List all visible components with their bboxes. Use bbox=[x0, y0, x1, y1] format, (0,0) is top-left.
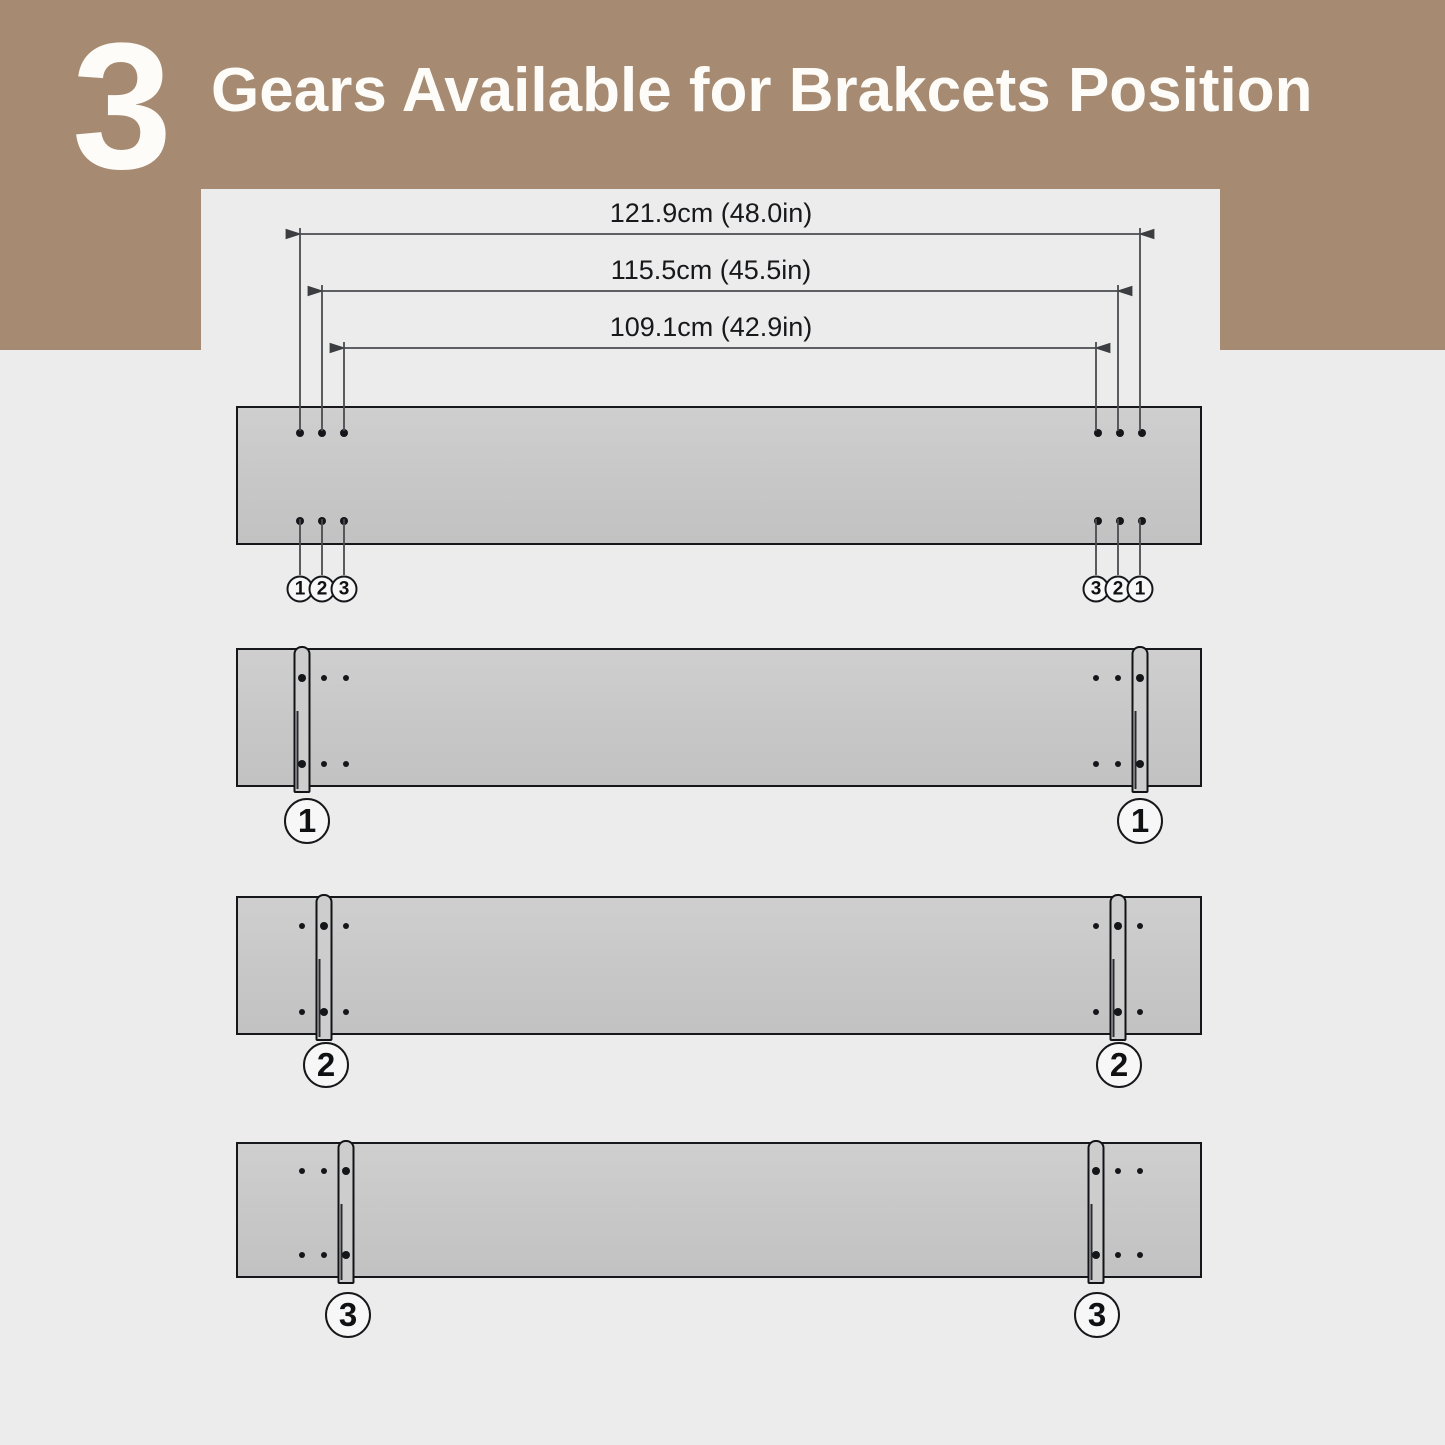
hole-bottom-right-2 bbox=[1114, 1008, 1122, 1016]
hole-bottom-right-3 bbox=[1093, 1009, 1099, 1015]
gear-marker-right-1: 1 bbox=[1117, 798, 1163, 844]
hole-bottom-right-1 bbox=[1136, 760, 1144, 768]
bracket-right-gear-1 bbox=[1132, 646, 1149, 793]
gear-board-2 bbox=[236, 896, 1202, 1035]
hole-top-left-1 bbox=[298, 674, 306, 682]
gear-marker-left-3: 3 bbox=[325, 1292, 371, 1338]
board-surface bbox=[238, 408, 1200, 543]
hole-top-left-1 bbox=[299, 1168, 305, 1174]
hole-bottom-right-1 bbox=[1137, 1252, 1143, 1258]
hole-top-right-3 bbox=[1092, 1167, 1100, 1175]
hole-bottom-left-1 bbox=[299, 1009, 305, 1015]
dimension-label-2: 115.5cm (45.5in) bbox=[611, 255, 812, 286]
gear-board-1 bbox=[236, 648, 1202, 787]
hole-bottom-left-1 bbox=[296, 517, 304, 525]
hole-bottom-right-1 bbox=[1137, 1009, 1143, 1015]
overview-board bbox=[236, 406, 1202, 545]
hole-bottom-left-2 bbox=[321, 761, 327, 767]
bracket-edge-line bbox=[1135, 711, 1137, 789]
hole-bottom-left-3 bbox=[340, 517, 348, 525]
bracket-left-gear-2 bbox=[316, 894, 333, 1041]
hole-top-left-3 bbox=[343, 675, 349, 681]
hole-bottom-left-1 bbox=[298, 760, 306, 768]
hole-top-right-2 bbox=[1116, 429, 1124, 437]
gear-marker-right-2: 2 bbox=[1096, 1042, 1142, 1088]
hole-bottom-right-2 bbox=[1115, 1252, 1121, 1258]
hole-top-right-1 bbox=[1137, 923, 1143, 929]
hole-top-left-1 bbox=[296, 429, 304, 437]
hole-bottom-left-3 bbox=[342, 1251, 350, 1259]
bracket-right-gear-2 bbox=[1110, 894, 1127, 1041]
hole-bottom-right-3 bbox=[1094, 517, 1102, 525]
bracket-right-gear-3 bbox=[1088, 1140, 1105, 1284]
hole-top-right-3 bbox=[1093, 923, 1099, 929]
hole-bottom-right-2 bbox=[1116, 517, 1124, 525]
gear-board-3 bbox=[236, 1142, 1202, 1278]
hole-bottom-left-2 bbox=[318, 517, 326, 525]
bracket-edge-line bbox=[1113, 959, 1115, 1037]
board-surface bbox=[238, 1144, 1200, 1276]
bracket-left-gear-3 bbox=[338, 1140, 355, 1284]
hole-top-left-2 bbox=[321, 675, 327, 681]
hole-bottom-left-1 bbox=[299, 1252, 305, 1258]
bracket-edge-line bbox=[341, 1204, 343, 1280]
hole-bottom-right-3 bbox=[1093, 761, 1099, 767]
hole-top-left-3 bbox=[340, 429, 348, 437]
hole-bottom-left-3 bbox=[343, 761, 349, 767]
bracket-edge-line bbox=[1091, 1204, 1093, 1280]
board-surface bbox=[238, 898, 1200, 1033]
bracket-edge-line bbox=[319, 959, 321, 1037]
hole-top-right-2 bbox=[1115, 675, 1121, 681]
hole-top-right-2 bbox=[1114, 922, 1122, 930]
dimension-label-3: 109.1cm (42.9in) bbox=[610, 312, 813, 343]
bracket-edge-line bbox=[297, 711, 299, 789]
hole-bottom-left-2 bbox=[320, 1008, 328, 1016]
hole-top-right-1 bbox=[1138, 429, 1146, 437]
hole-bottom-left-3 bbox=[343, 1009, 349, 1015]
hole-top-left-2 bbox=[321, 1168, 327, 1174]
hole-top-left-3 bbox=[342, 1167, 350, 1175]
board-surface bbox=[238, 650, 1200, 785]
hole-bottom-right-2 bbox=[1115, 761, 1121, 767]
hole-top-right-2 bbox=[1115, 1168, 1121, 1174]
hole-top-right-1 bbox=[1136, 674, 1144, 682]
hole-top-left-2 bbox=[320, 922, 328, 930]
hole-top-right-1 bbox=[1137, 1168, 1143, 1174]
gear-marker-left-2: 2 bbox=[303, 1042, 349, 1088]
overview-marker-right-1: 1 bbox=[1127, 576, 1154, 603]
hole-top-left-1 bbox=[299, 923, 305, 929]
hole-bottom-right-3 bbox=[1092, 1251, 1100, 1259]
hole-top-left-2 bbox=[318, 429, 326, 437]
dimension-label-1: 121.9cm (48.0in) bbox=[610, 198, 813, 229]
hole-top-right-3 bbox=[1093, 675, 1099, 681]
gear-marker-right-3: 3 bbox=[1074, 1292, 1120, 1338]
hole-bottom-left-2 bbox=[321, 1252, 327, 1258]
diagram-stage: 121.9cm (48.0in) 115.5cm (45.5in) 109.1c… bbox=[0, 0, 1445, 1445]
overview-marker-left-3: 3 bbox=[331, 576, 358, 603]
bracket-left-gear-1 bbox=[294, 646, 311, 793]
hole-top-right-3 bbox=[1094, 429, 1102, 437]
hole-bottom-right-1 bbox=[1138, 517, 1146, 525]
gear-marker-left-1: 1 bbox=[284, 798, 330, 844]
hole-top-left-3 bbox=[343, 923, 349, 929]
